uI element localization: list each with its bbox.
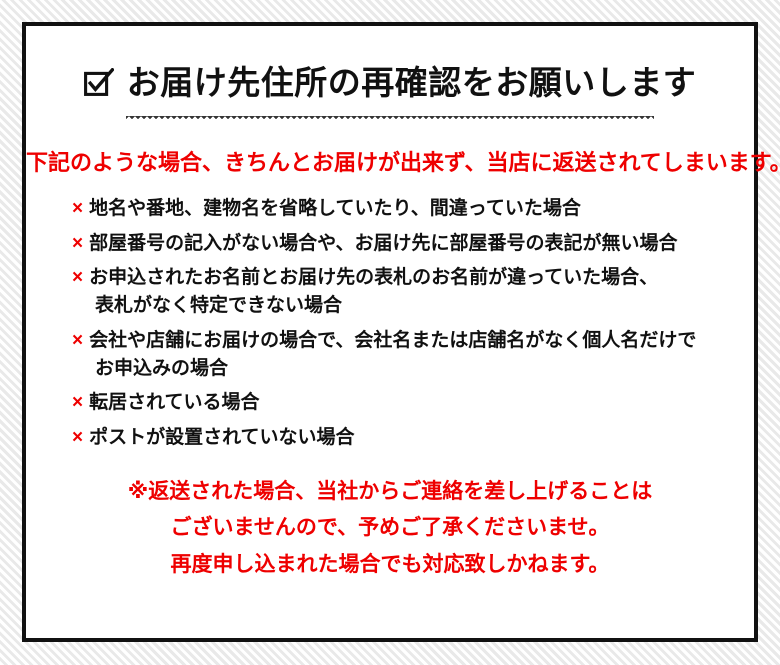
list-item-continuation: お申込みの場合 bbox=[72, 355, 754, 383]
footer-line-2: ございませんので、予めご了承くださいませ。 bbox=[26, 510, 754, 546]
list-item: ×転居されている場合 bbox=[72, 389, 754, 417]
failure-case-list: ×地名や番地、建物名を省略していたり、間違っていた場合 ×部屋番号の記入がない場… bbox=[26, 195, 754, 452]
list-item: ×ポストが設置されていない場合 bbox=[72, 424, 754, 452]
cross-mark-icon: × bbox=[72, 267, 83, 288]
list-item-continuation: 表札がなく特定できない場合 bbox=[72, 292, 754, 320]
list-item-head: ×転居されている場合 bbox=[72, 389, 754, 417]
cross-mark-icon: × bbox=[72, 330, 83, 351]
list-item: ×部屋番号の記入がない場合や、お届け先に部屋番号の表記が無い場合 bbox=[72, 230, 754, 258]
list-item-head: ×部屋番号の記入がない場合や、お届け先に部屋番号の表記が無い場合 bbox=[72, 230, 754, 258]
list-item-label: ポストが設置されていない場合 bbox=[89, 427, 354, 448]
cross-mark-icon: × bbox=[72, 427, 83, 448]
cross-mark-icon: × bbox=[72, 392, 83, 413]
checkbox-checked-icon bbox=[84, 68, 114, 98]
list-item-label: 部屋番号の記入がない場合や、お届け先に部屋番号の表記が無い場合 bbox=[89, 233, 677, 254]
notice-title-row: お届け先住所の再確認をお願いします bbox=[26, 66, 754, 99]
list-item-head: ×地名や番地、建物名を省略していたり、間違っていた場合 bbox=[72, 195, 754, 223]
list-item: ×お申込されたお名前とお届け先の表札のお名前が違っていた場合、 表札がなく特定で… bbox=[72, 264, 754, 319]
notice-box: お届け先住所の再確認をお願いします 下記のような場合、きちんとお届けが出来ず、当… bbox=[22, 22, 758, 642]
list-item-label: 会社や店舗にお届けの場合で、会社名または店舗名がなく個人名だけで bbox=[89, 330, 696, 351]
list-item-label: 転居されている場合 bbox=[89, 392, 259, 413]
footer-line-1: ※返送された場合、当社からご連絡を差し上げることは bbox=[26, 474, 754, 510]
list-item-head: ×ポストが設置されていない場合 bbox=[72, 424, 754, 452]
page-title: お届け先住所の再確認をお願いします bbox=[127, 66, 697, 99]
list-item-head: ×会社や店舗にお届けの場合で、会社名または店舗名がなく個人名だけで bbox=[72, 327, 754, 355]
footer-disclaimer: ※返送された場合、当社からご連絡を差し上げることは ございませんので、予めご了承… bbox=[26, 474, 754, 583]
list-item-label: 地名や番地、建物名を省略していたり、間違っていた場合 bbox=[89, 198, 581, 219]
list-item-head: ×お申込されたお名前とお届け先の表札のお名前が違っていた場合、 bbox=[72, 264, 754, 292]
cross-mark-icon: × bbox=[72, 198, 83, 219]
footer-line-3: 再度申し込まれた場合でも対応致しかねます。 bbox=[26, 547, 754, 583]
list-item-label: お申込されたお名前とお届け先の表札のお名前が違っていた場合、 bbox=[89, 267, 658, 288]
cross-mark-icon: × bbox=[72, 233, 83, 254]
list-item: ×会社や店舗にお届けの場合で、会社名または店舗名がなく個人名だけで お申込みの場… bbox=[72, 327, 754, 382]
list-item: ×地名や番地、建物名を省略していたり、間違っていた場合 bbox=[72, 195, 754, 223]
warning-lead-text: 下記のような場合、きちんとお届けが出来ず、当店に返送されてしまいます。 bbox=[26, 145, 754, 177]
zigzag-divider bbox=[126, 116, 654, 123]
